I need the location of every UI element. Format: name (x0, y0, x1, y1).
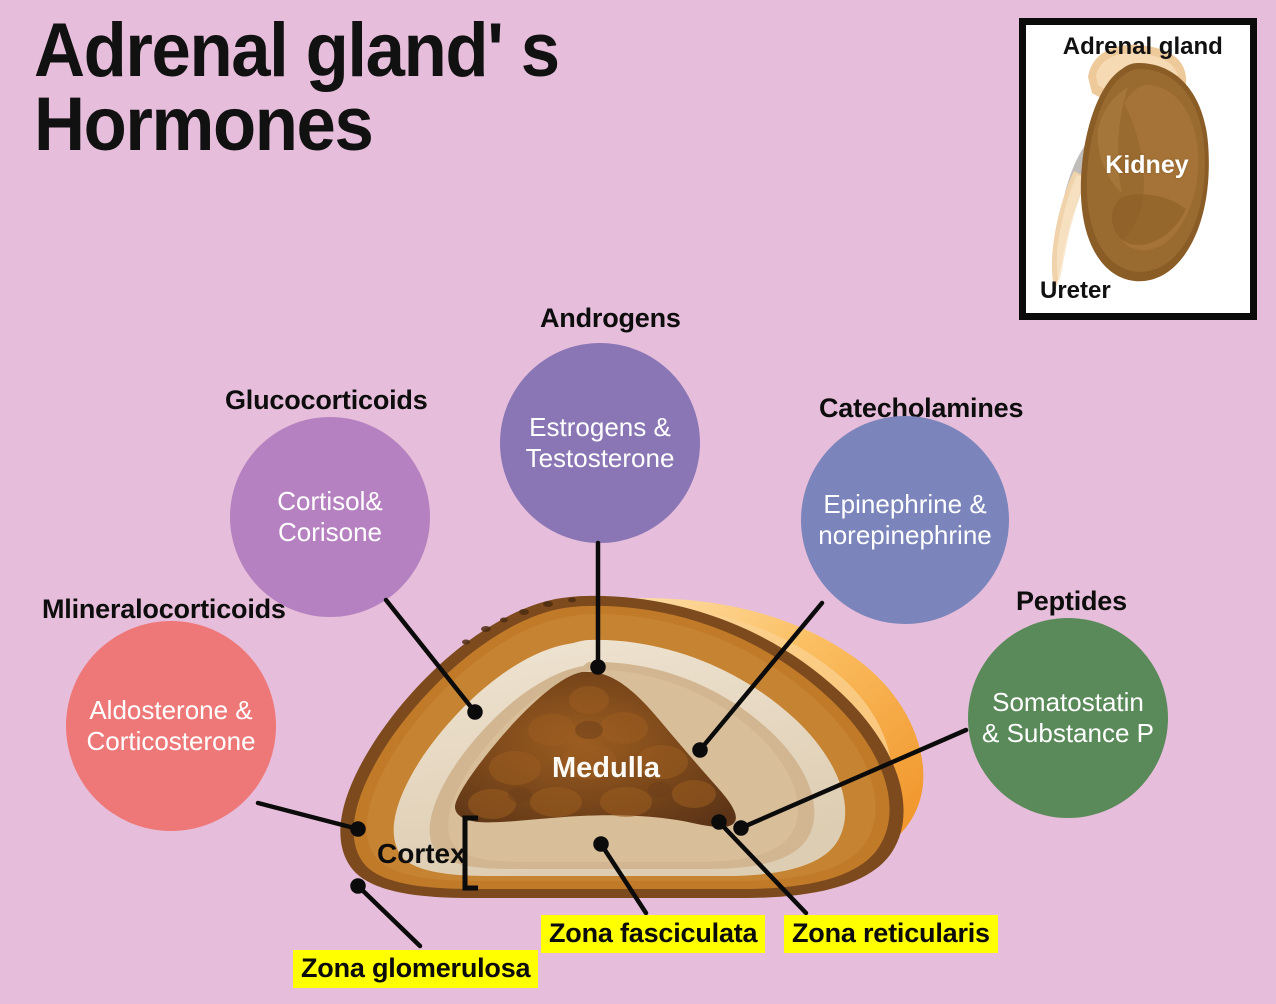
bubble-mineralocorticoids[interactable]: Aldosterone & Corticosterone (66, 621, 276, 831)
zona-glomerulosa-label: Zona glomerulosa (293, 950, 538, 988)
zona-reticularis-label: Zona reticularis (784, 915, 998, 953)
bubble-title-peptides: Peptides (1016, 586, 1127, 617)
diagram-canvas: Adrenal gland' s Hormones Adrenal gland … (0, 0, 1276, 1004)
medulla-label: Medulla (552, 752, 660, 785)
bubble-title-androgens: Androgens (540, 303, 681, 334)
bubble-androgens[interactable]: Estrogens & Testosterone (500, 343, 700, 543)
bubble-glucocorticoids[interactable]: Cortisol& Corisone (230, 417, 430, 617)
bubble-catecholamines[interactable]: Epinephrine & norepinephrine (801, 416, 1009, 624)
bubble-title-glucocorticoids: Glucocorticoids (225, 385, 428, 416)
zona-fasciculata-label: Zona fasciculata (541, 915, 765, 953)
cortex-label: Cortex (377, 838, 466, 870)
bubble-peptides[interactable]: Somatostatin & Substance P (968, 618, 1168, 818)
